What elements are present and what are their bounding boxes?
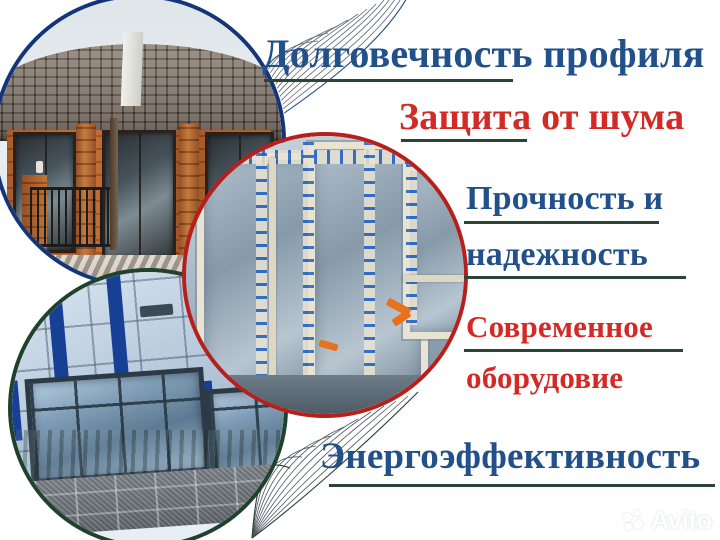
slogan-equipment-line1-rule [464, 349, 683, 352]
slogan-durability-rule [264, 79, 513, 82]
slogan-strength-line1-rule [464, 221, 659, 224]
veka-mullion [269, 158, 276, 380]
photo-circle-veka-windows [182, 132, 468, 418]
veka-protective-film-tape [364, 142, 375, 381]
veka-protective-film-tape [303, 142, 314, 381]
facade-vent [139, 303, 172, 317]
slogan-equipment-line1: Современное [466, 311, 653, 342]
house-railing [30, 187, 110, 247]
avito-wordmark: Avito [650, 505, 712, 536]
slogan-noise: Защита от шума [399, 98, 684, 136]
poster-canvas: Долговечность профиля Защита от шума Про… [0, 0, 720, 540]
slogan-durability: Долговечность профиля [262, 34, 704, 74]
avito-watermark: Avito [623, 505, 712, 536]
slogan-equipment-line2: оборудовие [466, 362, 623, 393]
slogan-energy-rule [329, 484, 715, 487]
veka-protective-film-tape [406, 164, 417, 325]
slogan-strength-line1: Прочность и [466, 182, 663, 216]
slogan-noise-rule [401, 139, 527, 142]
avito-dots-icon [623, 510, 645, 532]
slogan-energy: Энергоэффективность [320, 438, 700, 475]
house-lamp [36, 161, 43, 173]
slogan-strength-line2: надежность [466, 238, 648, 272]
veka-mullion [403, 275, 464, 282]
slogan-strength-line2-rule [464, 276, 686, 279]
house-downpipe [110, 118, 117, 250]
veka-floor [186, 375, 464, 414]
veka-protective-film-tape [256, 153, 267, 387]
house-roof-ridge [121, 32, 144, 106]
